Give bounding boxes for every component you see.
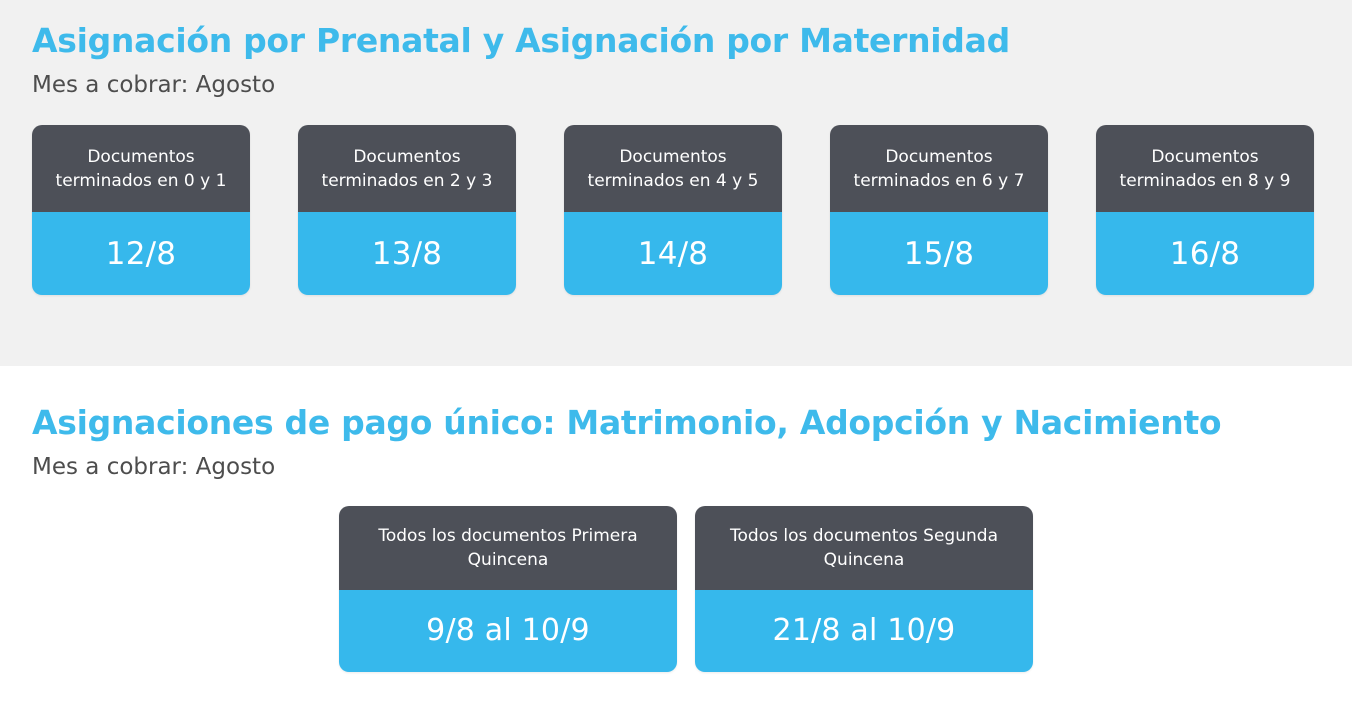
section-prenatal-maternidad: Asignación por Prenatal y Asignación por… — [0, 0, 1352, 366]
section-title-pago-unico: Asignaciones de pago único: Matrimonio, … — [32, 403, 1320, 443]
payment-card-date: 9/8 al 10/9 — [339, 590, 677, 672]
payment-card[interactable]: Todos los documentos Primera Quincena 9/… — [339, 506, 677, 672]
section-subtitle-month: Mes a cobrar: Agosto — [32, 70, 1320, 100]
payment-card[interactable]: Documentos terminados en 2 y 3 13/8 — [298, 125, 516, 295]
payment-card-date: 16/8 — [1096, 212, 1314, 295]
payment-card[interactable]: Documentos terminados en 8 y 9 16/8 — [1096, 125, 1314, 295]
card-row-pago-unico: Todos los documentos Primera Quincena 9/… — [32, 506, 1320, 672]
payment-card-date: 13/8 — [298, 212, 516, 295]
section-pago-unico: Asignaciones de pago único: Matrimonio, … — [0, 366, 1352, 705]
payment-card-title: Documentos terminados en 4 y 5 — [564, 125, 782, 212]
payment-card-title: Todos los documentos Primera Quincena — [339, 506, 677, 590]
payment-calendar-page: Asignación por Prenatal y Asignación por… — [0, 0, 1352, 705]
payment-card-date: 15/8 — [830, 212, 1048, 295]
payment-card-date: 12/8 — [32, 212, 250, 295]
card-row-prenatal: Documentos terminados en 0 y 1 12/8 Docu… — [32, 125, 1320, 295]
payment-card[interactable]: Documentos terminados en 6 y 7 15/8 — [830, 125, 1048, 295]
payment-card-title: Documentos terminados en 2 y 3 — [298, 125, 516, 212]
payment-card-date: 21/8 al 10/9 — [695, 590, 1033, 672]
page-title: Asignación por Prenatal y Asignación por… — [32, 21, 1320, 61]
payment-card[interactable]: Todos los documentos Segunda Quincena 21… — [695, 506, 1033, 672]
payment-card-title: Documentos terminados en 6 y 7 — [830, 125, 1048, 212]
payment-card-date: 14/8 — [564, 212, 782, 295]
payment-card-title: Todos los documentos Segunda Quincena — [695, 506, 1033, 590]
section-subtitle-month: Mes a cobrar: Agosto — [32, 452, 1320, 482]
payment-card-title: Documentos terminados en 0 y 1 — [32, 125, 250, 212]
payment-card-title: Documentos terminados en 8 y 9 — [1096, 125, 1314, 212]
payment-card[interactable]: Documentos terminados en 4 y 5 14/8 — [564, 125, 782, 295]
payment-card[interactable]: Documentos terminados en 0 y 1 12/8 — [32, 125, 250, 295]
